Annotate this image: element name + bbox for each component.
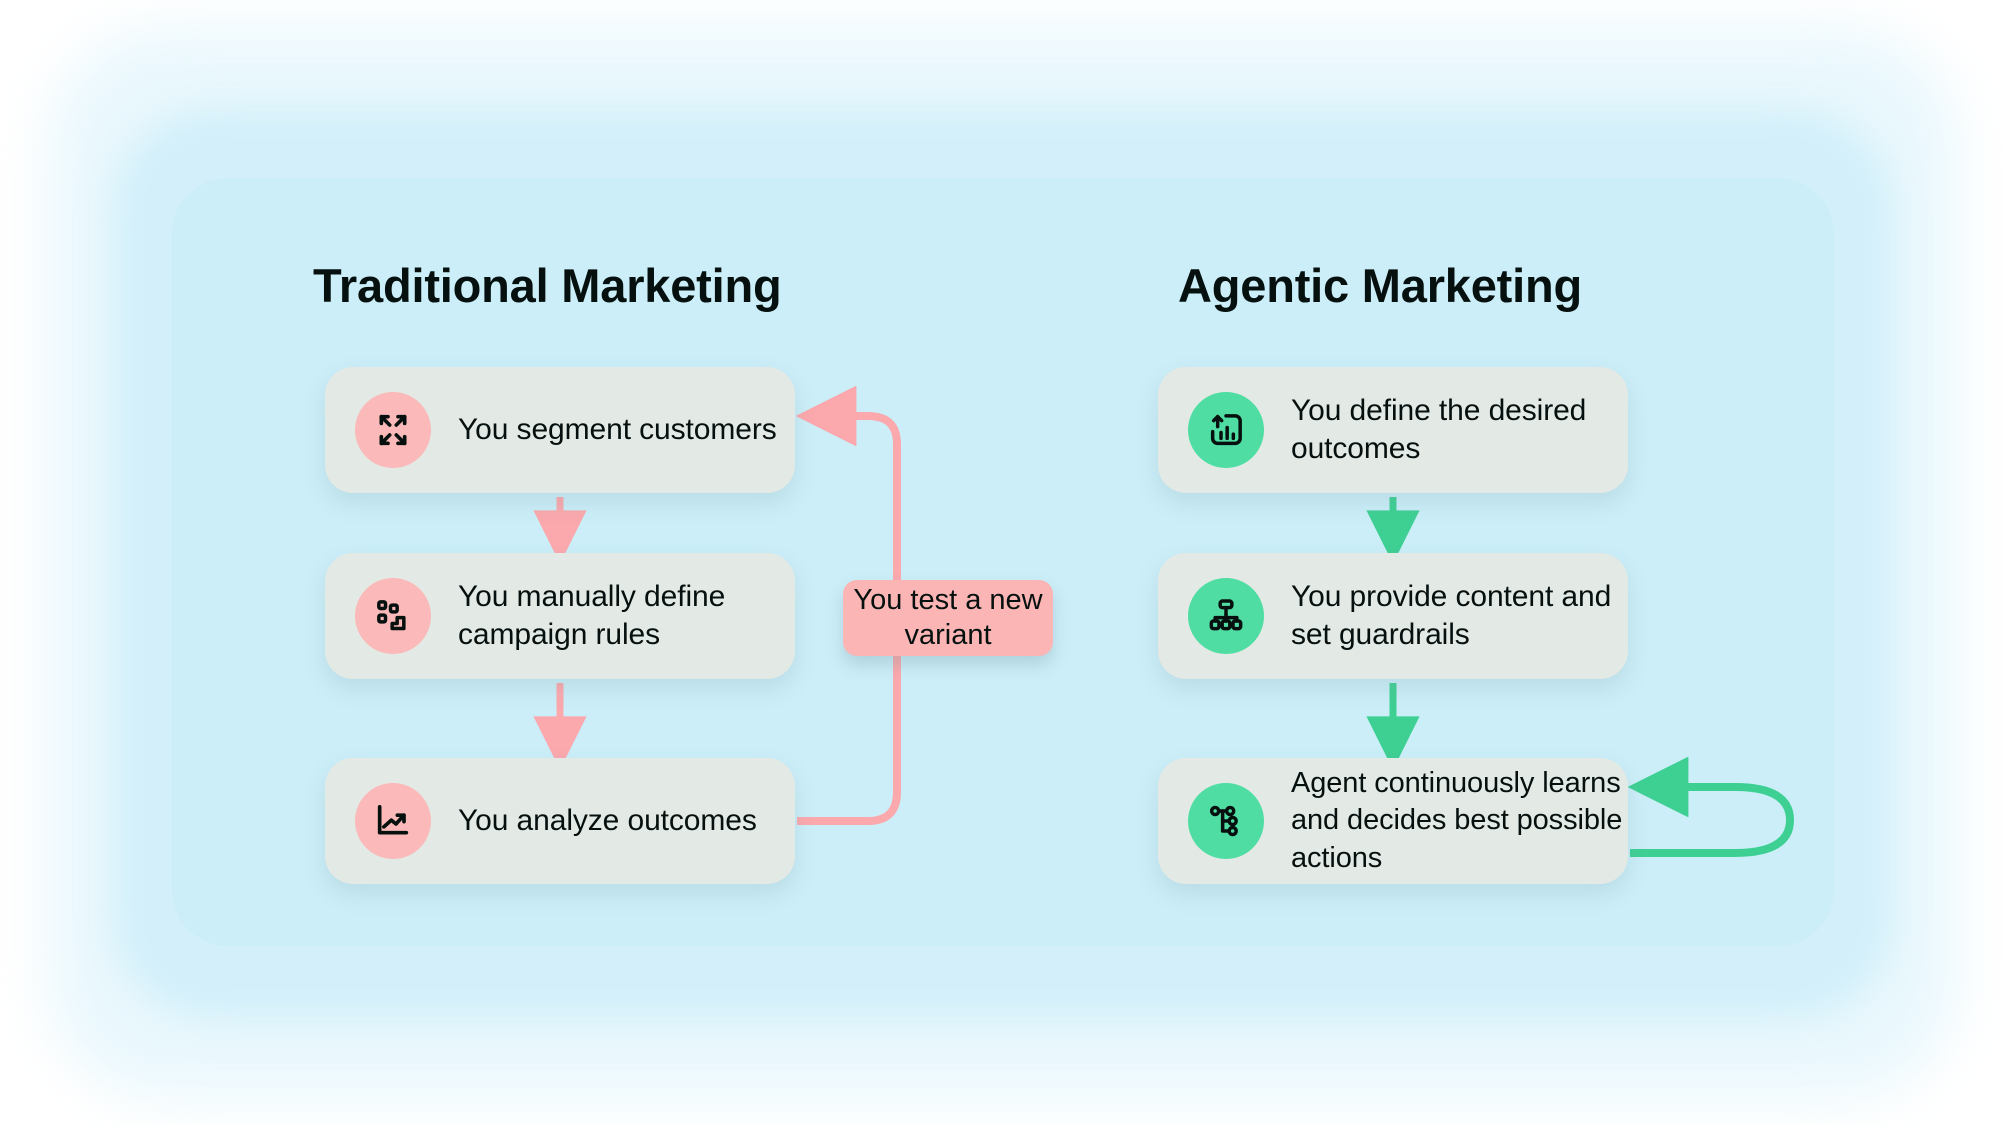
- card-left-campaign-rules[interactable]: You manually define campaign rules: [325, 553, 795, 679]
- page-title-traditional: Traditional Marketing: [313, 258, 782, 313]
- card-right-provide-content[interactable]: You provide content and set guardrails: [1158, 553, 1628, 679]
- card-left-analyze-outcomes[interactable]: You analyze outcomes: [325, 758, 795, 884]
- page-title-agentic: Agentic Marketing: [1178, 258, 1582, 313]
- expand-arrows-icon: [355, 392, 431, 468]
- card-right-define-outcomes[interactable]: You define the desired outcomes: [1158, 367, 1628, 493]
- loop-label-test-variant[interactable]: You test a new variant: [843, 580, 1053, 656]
- bar-chart-arrow-up-icon: [1188, 392, 1264, 468]
- branching-nodes-icon: [1188, 783, 1264, 859]
- loop-label-text: You test a new variant: [843, 583, 1053, 654]
- card-right-agent-learns[interactable]: Agent continuously learns and decides be…: [1158, 758, 1628, 884]
- diagram-canvas: Traditional Marketing Agentic Marketing: [0, 0, 2006, 1126]
- card-label: You define the desired outcomes: [1291, 392, 1628, 469]
- card-label: You provide content and set guardrails: [1291, 578, 1628, 655]
- card-label: You segment customers: [458, 411, 777, 449]
- card-label: You analyze outcomes: [458, 802, 757, 840]
- line-chart-up-icon: [355, 783, 431, 859]
- card-left-segment-customers[interactable]: You segment customers: [325, 367, 795, 493]
- hierarchy-icon: [1188, 578, 1264, 654]
- card-label: Agent continuously learns and decides be…: [1291, 765, 1628, 876]
- blocks-group-icon: [355, 578, 431, 654]
- card-label: You manually define campaign rules: [458, 578, 795, 655]
